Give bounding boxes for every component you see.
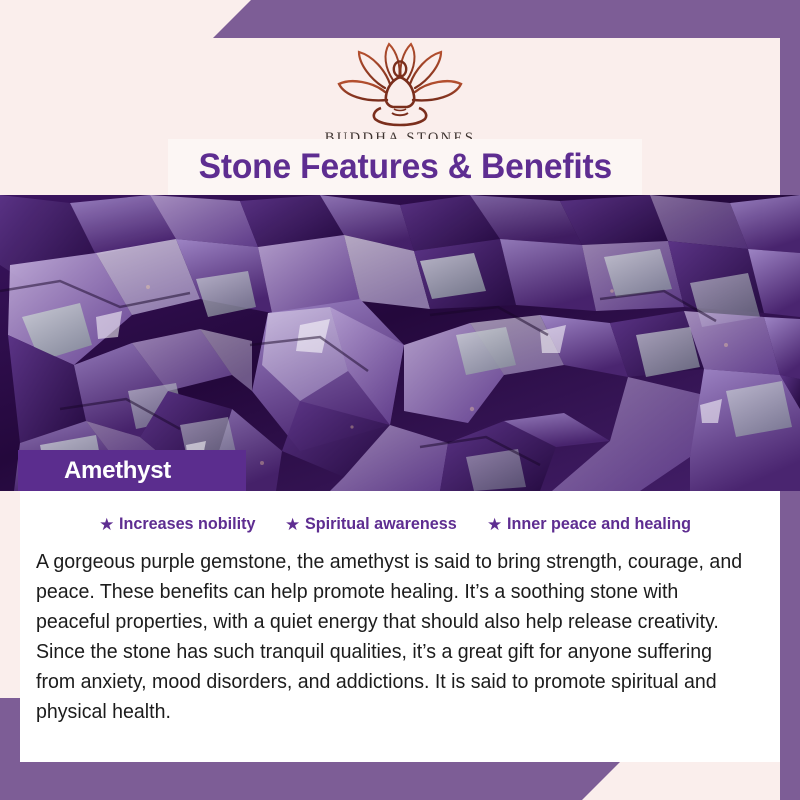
star-icon: ★ [99, 516, 114, 533]
decorative-band-bottom [0, 762, 620, 800]
stone-name-label: Amethyst [64, 457, 171, 485]
star-icon: ★ [487, 516, 502, 533]
page-title-plate: Stone Features & Benefits [168, 139, 642, 195]
amethyst-crystal-photo [0, 195, 800, 491]
benefit-label: Inner peace and healing [507, 514, 691, 534]
benefit-item: ★ Increases nobility [99, 514, 263, 534]
benefit-item: ★ Inner peace and healing [487, 514, 701, 534]
benefit-label: Increases nobility [119, 514, 255, 534]
decorative-band-top [213, 0, 800, 38]
benefit-label: Spiritual awareness [305, 514, 457, 534]
benefits-list: ★ Increases nobility ★ Spiritual awarene… [20, 491, 780, 534]
content-panel: ★ Increases nobility ★ Spiritual awarene… [20, 491, 780, 762]
stone-name-banner: Amethyst [18, 450, 246, 491]
star-icon: ★ [285, 516, 300, 533]
benefit-item: ★ Spiritual awareness [285, 514, 465, 534]
infographic-page: BUDDHA STONES Stone Features & Benefits [0, 0, 800, 800]
page-title: Stone Features & Benefits [198, 147, 611, 187]
stone-description: A gorgeous purple gemstone, the amethyst… [36, 547, 750, 727]
lotus-meditation-icon [325, 36, 475, 128]
